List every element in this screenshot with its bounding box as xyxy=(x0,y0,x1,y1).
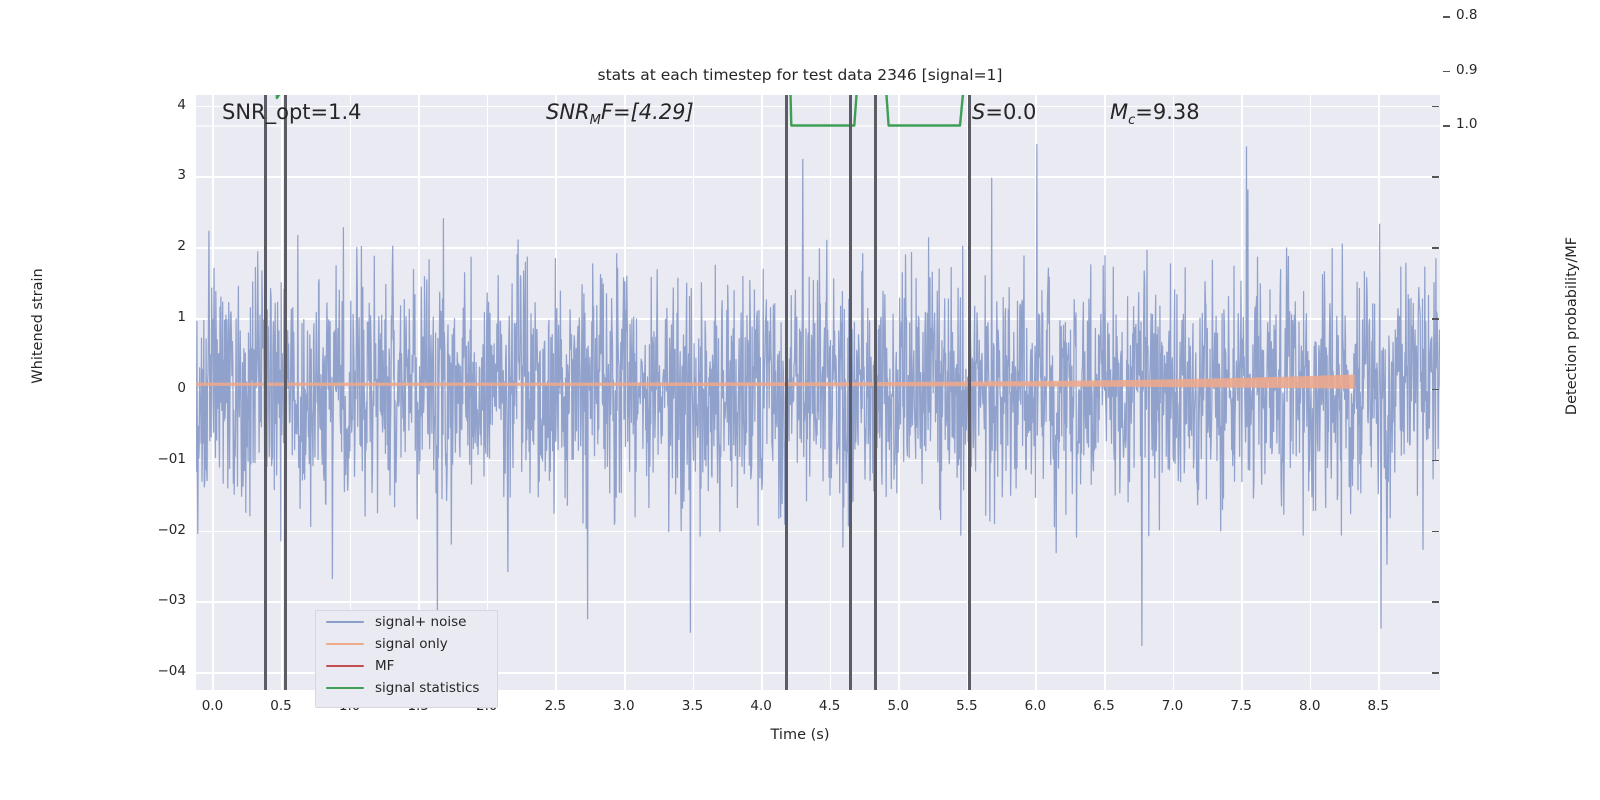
y-tick-label-right: 0.8 xyxy=(1456,7,1516,23)
y-tick-label-right: 1.0 xyxy=(1456,116,1516,132)
annotation-snr-opt: SNR_opt=1.4 xyxy=(222,100,362,124)
legend-label: MF xyxy=(375,658,394,674)
annotation-snr-mf-subscript: M xyxy=(590,113,601,128)
series-signal-statistics xyxy=(213,95,1441,126)
x-tick-label: 3.0 xyxy=(594,698,654,714)
x-axis-label: Time (s) xyxy=(0,727,1600,743)
y-tick-mark-left xyxy=(1432,106,1439,108)
x-tick-label: 5.5 xyxy=(937,698,997,714)
legend-swatch-icon xyxy=(326,687,364,690)
y-tick-label-left: −02 xyxy=(126,522,186,538)
legend-swatch-icon xyxy=(326,665,364,668)
annotation-snr-opt-text: SNR_opt= xyxy=(222,100,328,124)
x-tick-label: 8.0 xyxy=(1280,698,1340,714)
annotation-s-rest: =0.0 xyxy=(985,100,1036,124)
y-tick-mark-left xyxy=(1432,176,1439,178)
plot-area xyxy=(196,95,1440,690)
vertical-marker xyxy=(968,95,971,690)
vertical-marker xyxy=(264,95,267,690)
series-signal-plus-noise xyxy=(196,145,1440,646)
y-tick-label-left: −04 xyxy=(126,663,186,679)
annotation-mc-rest: =9.38 xyxy=(1135,100,1199,124)
chart-title: stats at each timestep for test data 234… xyxy=(0,66,1600,84)
annotation-s-base: S xyxy=(972,100,985,124)
annotation-snr-mf-rest: F=[4.29] xyxy=(601,100,694,124)
x-tick-label: 8.5 xyxy=(1348,698,1408,714)
x-tick-label: 0.0 xyxy=(182,698,242,714)
vertical-marker xyxy=(874,95,877,690)
vertical-marker xyxy=(785,95,788,690)
y-tick-mark-left xyxy=(1432,601,1439,603)
annotation-s-stat: S=0.0 xyxy=(972,100,1036,124)
y-tick-label-left: 3 xyxy=(126,167,186,183)
y-tick-label-left: 4 xyxy=(126,97,186,113)
data-series-layer xyxy=(196,95,1440,690)
legend-item-signal-only[interactable]: signal only xyxy=(316,633,497,655)
annotation-mc-base: M xyxy=(1110,100,1128,124)
x-tick-label: 5.0 xyxy=(868,698,928,714)
annotation-chirp-mass: Mc=9.38 xyxy=(1110,100,1200,128)
y-axis-label-right: Detection probability/MF xyxy=(1564,216,1580,436)
x-tick-label: 0.5 xyxy=(251,698,311,714)
x-tick-label: 6.0 xyxy=(1005,698,1065,714)
annotation-snr-mf-base: SNR xyxy=(546,100,590,124)
legend-swatch-icon xyxy=(326,621,364,624)
y-tick-label-left: 2 xyxy=(126,238,186,254)
annotation-snr-opt-value: 1.4 xyxy=(328,100,361,124)
y-tick-mark-right xyxy=(1443,71,1450,73)
y-tick-label-left: −01 xyxy=(126,451,186,467)
legend-item-signal-statistics[interactable]: signal statistics xyxy=(316,677,497,699)
x-tick-label: 3.5 xyxy=(663,698,723,714)
legend[interactable]: signal+ noisesignal onlyMFsignal statist… xyxy=(315,610,498,708)
y-tick-label-left: 1 xyxy=(126,309,186,325)
annotation-snr-mf: SNRMF=[4.29] xyxy=(546,100,694,128)
y-tick-mark-left xyxy=(1432,672,1439,674)
figure-canvas: stats at each timestep for test data 234… xyxy=(0,0,1600,800)
x-tick-label: 2.5 xyxy=(525,698,585,714)
vertical-marker xyxy=(284,95,287,690)
y-tick-mark-left xyxy=(1432,389,1439,391)
x-tick-label: 6.5 xyxy=(1074,698,1134,714)
y-tick-mark-left xyxy=(1432,531,1439,533)
legend-label: signal+ noise xyxy=(375,614,466,630)
y-tick-label-right: 0.9 xyxy=(1456,62,1516,78)
y-tick-label-left: 0 xyxy=(126,380,186,396)
legend-swatch-icon xyxy=(326,643,364,646)
x-tick-label: 4.5 xyxy=(800,698,860,714)
x-tick-label: 7.0 xyxy=(1143,698,1203,714)
legend-label: signal only xyxy=(375,636,448,652)
legend-label: signal statistics xyxy=(375,680,479,696)
y-tick-mark-right xyxy=(1443,125,1450,127)
legend-item-signal-noise[interactable]: signal+ noise xyxy=(316,611,497,633)
y-tick-mark-right xyxy=(1443,16,1450,18)
y-tick-label-left: −03 xyxy=(126,592,186,608)
y-tick-mark-left xyxy=(1432,247,1439,249)
legend-item-mf[interactable]: MF xyxy=(316,655,497,677)
y-tick-mark-left xyxy=(1432,318,1439,320)
y-tick-mark-left xyxy=(1432,460,1439,462)
x-tick-label: 7.5 xyxy=(1211,698,1271,714)
vertical-marker xyxy=(849,95,852,690)
x-tick-label: 4.0 xyxy=(731,698,791,714)
y-axis-label-left: Whitened strain xyxy=(30,226,46,426)
